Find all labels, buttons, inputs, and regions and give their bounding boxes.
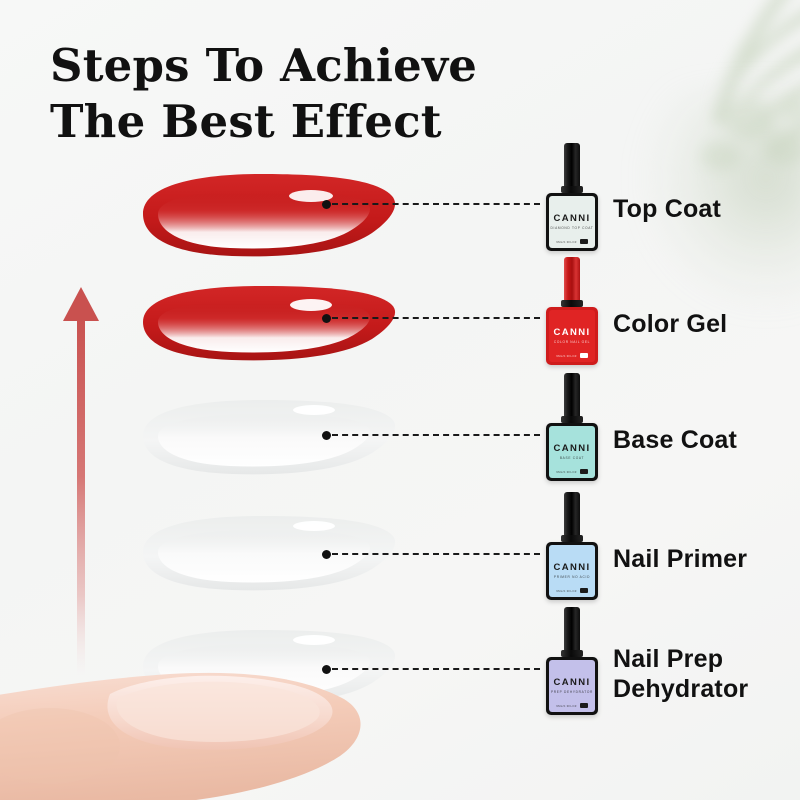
connector-base-coat [322,430,540,440]
layer-shape-top-coat [143,174,395,256]
connector-dot [322,431,331,440]
bottle-footer: 9ML/0.3FLOZ [549,353,595,358]
bottle-cap-icon [564,373,580,419]
connector-dot [322,665,331,674]
bottle-nail-prep-dehydrator[interactable]: CANNI PREP DEHYDRATOR 9ML/0.3FLOZ [544,607,600,715]
bottle-label: CANNI DIAMOND TOP COAT 9ML/0.3FLOZ [549,196,595,248]
bottle-body: CANNI PRIMER NO ACID 9ML/0.3FLOZ [546,542,598,600]
connector-color-gel [322,313,540,323]
bottle-subtitle: PREP DEHYDRATOR [551,691,593,694]
title-line-1: Steps To Achieve [50,39,477,92]
bottle-volume: 9ML/0.3FLOZ [556,240,577,244]
step-label-nail-prep-dehydrator: Nail Prep Dehydrator [613,645,748,704]
bottle-barcode-chip [580,588,588,593]
connector-dot [322,200,331,209]
bottle-label: CANNI PREP DEHYDRATOR 9ML/0.3FLOZ [549,660,595,712]
bottle-body: CANNI BASE COAT 9ML/0.3FLOZ [546,423,598,481]
step-label-color-gel: Color Gel [613,310,727,340]
bottle-brand: CANNI [553,563,590,573]
connector-dot [322,550,331,559]
connector-nail-prep-dehydrator [322,664,540,674]
bottle-cap-icon [564,257,580,303]
step-label-nail-primer: Nail Primer [613,545,747,575]
bottle-barcode-chip [580,469,588,474]
bottle-cap-icon [564,492,580,538]
bottle-footer: 9ML/0.3FLOZ [549,588,595,593]
bottle-footer: 9ML/0.3FLOZ [549,703,595,708]
finger-with-natural-nail [0,606,410,800]
bottle-brand: CANNI [553,214,590,224]
bottle-volume: 9ML/0.3FLOZ [556,354,577,358]
bottle-volume: 9ML/0.3FLOZ [556,704,577,708]
infographic-page: Steps To Achieve The Best Effect [0,0,800,800]
connector-dashed-line [332,203,540,205]
bottle-brand: CANNI [553,328,590,338]
bottle-volume: 9ML/0.3FLOZ [556,470,577,474]
bottle-subtitle: BASE COAT [560,457,584,460]
bottle-footer: 9ML/0.3FLOZ [549,239,595,244]
bottle-body: CANNI DIAMOND TOP COAT 9ML/0.3FLOZ [546,193,598,251]
connector-dot [322,314,331,323]
layer-shape-color-gel [143,286,395,360]
page-title: Steps To Achieve The Best Effect [50,38,520,151]
bottle-barcode-chip [580,239,588,244]
connector-dashed-line [332,553,540,555]
step-label-base-coat: Base Coat [613,426,737,456]
bottle-top-coat[interactable]: CANNI DIAMOND TOP COAT 9ML/0.3FLOZ [544,143,600,251]
bottle-subtitle: PRIMER NO ACID [554,576,590,579]
title-line-2: The Best Effect [50,94,520,150]
bottle-label: CANNI PRIMER NO ACID 9ML/0.3FLOZ [549,545,595,597]
bottle-body: CANNI PREP DEHYDRATOR 9ML/0.3FLOZ [546,657,598,715]
connector-dashed-line [332,434,540,436]
connector-dashed-line [332,668,540,670]
connector-top-coat [322,199,540,209]
connector-dashed-line [332,317,540,319]
bottle-cap-icon [564,607,580,653]
bottle-base-coat[interactable]: CANNI BASE COAT 9ML/0.3FLOZ [544,373,600,481]
bottle-body: CANNI COLOR NAIL GEL 9ML/0.3FLOZ [546,307,598,365]
bottle-subtitle: COLOR NAIL GEL [554,341,590,344]
step-label-top-coat: Top Coat [613,195,721,225]
bottle-cap-icon [564,143,580,189]
bottle-brand: CANNI [553,444,590,454]
bottle-subtitle: DIAMOND TOP COAT [550,227,593,230]
bottle-label: CANNI COLOR NAIL GEL 9ML/0.3FLOZ [549,310,595,362]
bottle-color-gel[interactable]: CANNI COLOR NAIL GEL 9ML/0.3FLOZ [544,257,600,365]
bottle-barcode-chip [580,353,588,358]
bottle-brand: CANNI [553,678,590,688]
bottle-footer: 9ML/0.3FLOZ [549,469,595,474]
bottle-label: CANNI BASE COAT 9ML/0.3FLOZ [549,426,595,478]
bottle-volume: 9ML/0.3FLOZ [556,589,577,593]
connector-nail-primer [322,549,540,559]
bottle-barcode-chip [580,703,588,708]
bottle-nail-primer[interactable]: CANNI PRIMER NO ACID 9ML/0.3FLOZ [544,492,600,600]
